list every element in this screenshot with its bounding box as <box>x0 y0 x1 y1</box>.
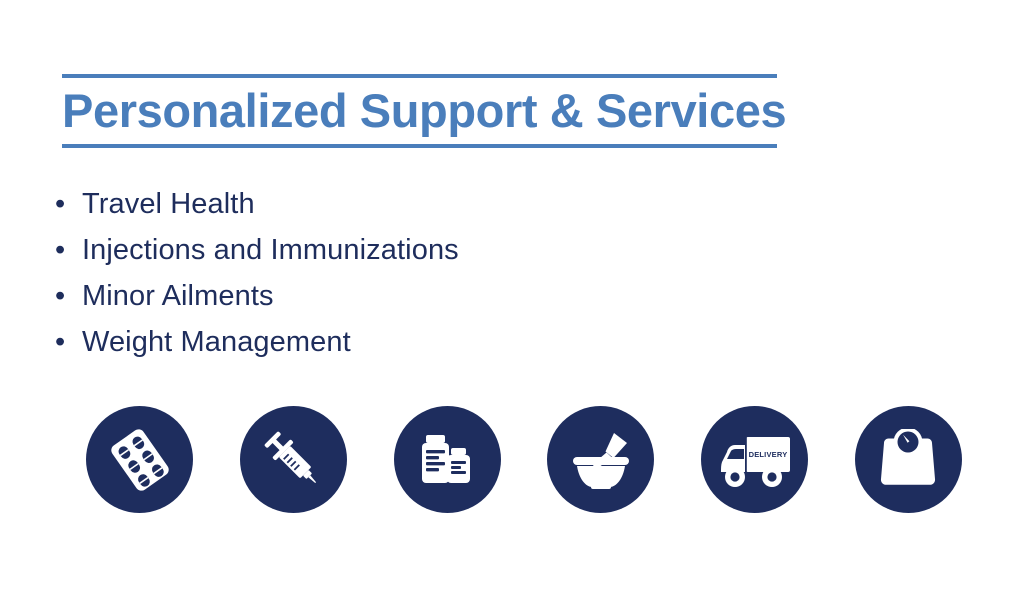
bullet-marker: • <box>55 319 82 365</box>
weight-scale-icon <box>875 429 941 491</box>
list-item-label: Travel Health <box>82 181 255 227</box>
icon-badge-syringe <box>240 406 347 513</box>
mortar-and-pestle-icon <box>567 427 635 493</box>
icon-row: DELIVERY <box>86 406 962 513</box>
list-item: • Injections and Immunizations <box>55 227 459 273</box>
list-item-label: Injections and Immunizations <box>82 227 459 273</box>
bullet-marker: • <box>55 227 82 273</box>
list-item: • Weight Management <box>55 319 459 365</box>
delivery-truck-icon: DELIVERY <box>717 429 793 491</box>
title-block: Personalized Support & Services <box>62 74 777 148</box>
icon-badge-weight-scale <box>855 406 962 513</box>
icon-badge-delivery-truck: DELIVERY <box>701 406 808 513</box>
list-item: • Travel Health <box>55 181 459 227</box>
title-rule-bottom <box>62 144 777 148</box>
icon-badge-blister-pack <box>86 406 193 513</box>
syringe-icon <box>259 426 327 494</box>
medicine-bottles-icon <box>414 427 480 493</box>
icon-badge-mortar-pestle <box>547 406 654 513</box>
icon-badge-medicine-bottles <box>394 406 501 513</box>
blister-pack-icon <box>106 426 174 494</box>
bullet-marker: • <box>55 181 82 227</box>
list-item-label: Weight Management <box>82 319 351 365</box>
list-item-label: Minor Ailments <box>82 273 274 319</box>
delivery-truck-text: DELIVERY <box>748 450 787 459</box>
slide-canvas: Personalized Support & Services • Travel… <box>0 0 1025 590</box>
bullet-marker: • <box>55 273 82 319</box>
list-item: • Minor Ailments <box>55 273 459 319</box>
page-title: Personalized Support & Services <box>62 78 777 144</box>
bullet-list: • Travel Health • Injections and Immuniz… <box>55 181 459 365</box>
